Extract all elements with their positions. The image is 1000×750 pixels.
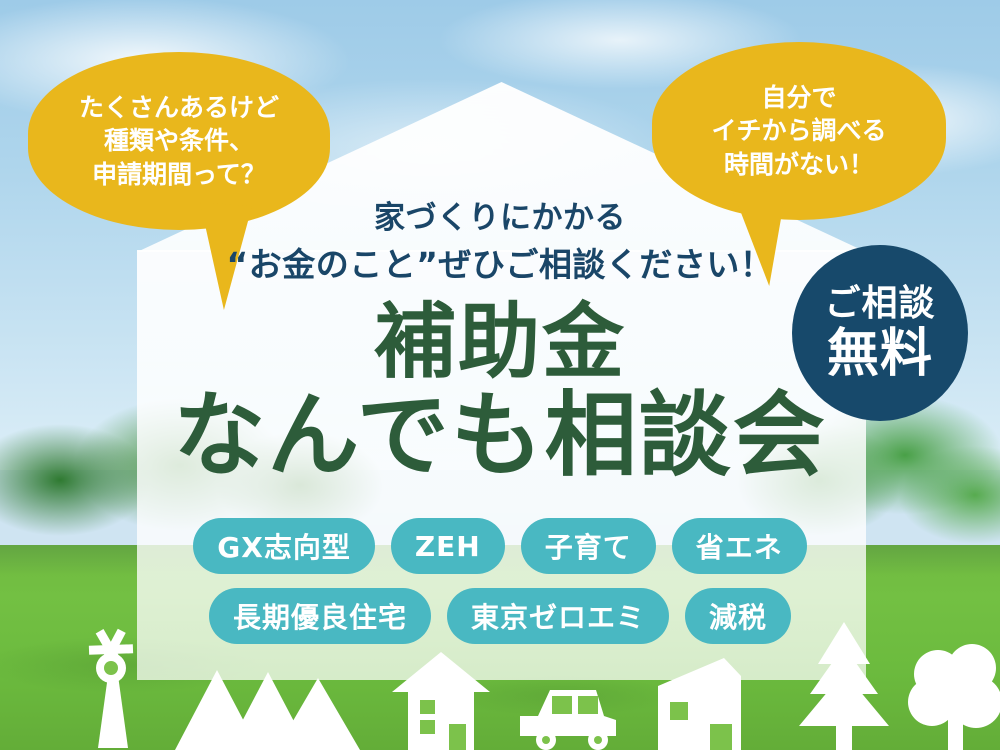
- bottom-icon-strip: [0, 630, 1000, 750]
- badge-line-2: 無料: [827, 328, 933, 380]
- question-bubble-right: 自分で イチから調べる 時間がない！: [652, 42, 946, 220]
- question-bubble-right-text: 自分で イチから調べる 時間がない！: [652, 42, 946, 220]
- bubble-left-line-2: 種類や条件、: [104, 124, 254, 157]
- tag-row-1: GX志向型 ZEH 子育て 省エネ: [0, 518, 1000, 574]
- bubble-left-line-3: 申請期間って？: [92, 158, 266, 191]
- bubble-right-line-2: イチから調べる: [711, 114, 886, 147]
- tag-pill-kosodate[interactable]: 子育て: [521, 518, 656, 574]
- promo-banner: たくさんあるけど 種類や条件、 申請期間って？ 自分で イチから調べる 時間がな…: [0, 0, 1000, 750]
- modern-house-icon: [658, 658, 753, 750]
- free-consultation-badge: ご相談 無料: [792, 245, 968, 421]
- tag-pill-shoene[interactable]: 省エネ: [672, 518, 807, 574]
- pine-tree-icon: [794, 622, 894, 750]
- bubble-right-line-1: 自分で: [761, 81, 836, 114]
- bubble-right-line-3: 時間がない！: [724, 148, 874, 181]
- mountains-icon: [175, 670, 360, 750]
- bubble-left-line-1: たくさんあるけど: [79, 91, 279, 124]
- windmill-icon: [48, 628, 178, 750]
- tag-pill-zeh[interactable]: ZEH: [391, 518, 505, 574]
- house-icon: [392, 652, 490, 750]
- badge-line-1: ご相談: [824, 286, 935, 322]
- car-icon: [512, 680, 622, 750]
- subheading-line-1: 家づくりにかかる: [0, 196, 1000, 241]
- tag-pill-gx[interactable]: GX志向型: [193, 518, 375, 574]
- round-tree-icon: [908, 644, 1000, 750]
